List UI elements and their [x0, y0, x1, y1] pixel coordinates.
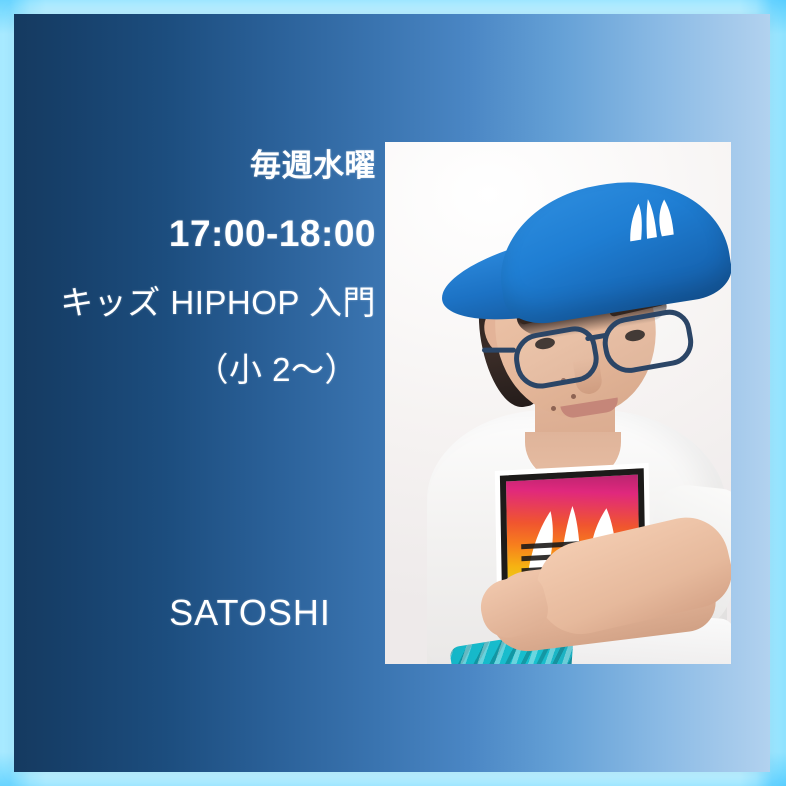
photo-scene: adidas	[385, 142, 731, 664]
class-info-block: 毎週水曜 17:00-18:00 キッズ HIPHOP 入門 （小 2〜）	[20, 150, 380, 386]
trefoil-icon	[618, 194, 682, 245]
lens-right	[599, 306, 697, 377]
glasses-temple	[482, 348, 516, 353]
mole-shape	[571, 394, 576, 399]
instructor-photo: adidas	[385, 142, 731, 664]
cap-shape	[488, 167, 731, 329]
grade-range-label: （小 2〜）	[20, 353, 380, 386]
weekday-label: 毎週水曜	[20, 150, 380, 181]
mole-shape	[551, 406, 556, 411]
class-time-label: 17:00-18:00	[20, 215, 380, 252]
course-title-label: キッズ HIPHOP 入門	[20, 286, 380, 319]
flyer-slide: 毎週水曜 17:00-18:00 キッズ HIPHOP 入門 （小 2〜） SA…	[0, 0, 786, 786]
